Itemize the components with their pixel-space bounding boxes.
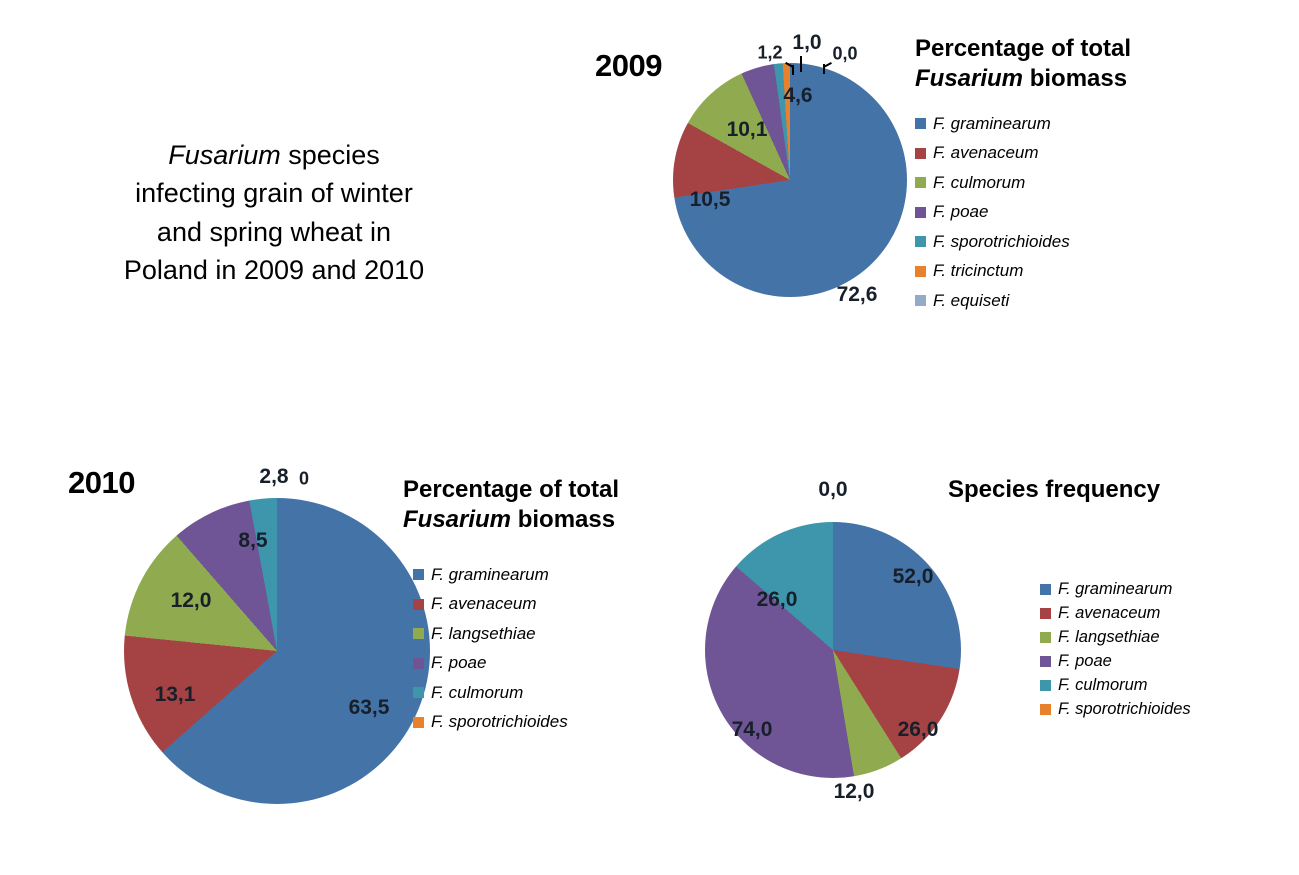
legend-swatch-lightblue-icon — [915, 295, 926, 306]
pie-2009-value-culmorum: 10,1 — [727, 118, 768, 142]
legend-item-graminearum[interactable]: F. graminearum — [915, 109, 1070, 139]
legend-label-avenaceum: F. avenaceum — [1058, 604, 1160, 623]
pie-2010 — [124, 498, 430, 804]
chart-title-2010-italic: Fusarium — [403, 506, 511, 533]
legend-item-poae[interactable]: F. poae — [1040, 649, 1191, 673]
legend-label-sporotrichioides: F. sporotrichioides — [933, 232, 1070, 252]
legend-label-langsethiae: F. langsethiae — [431, 624, 536, 644]
pie-2010-value-sporotrichioides: 0 — [299, 469, 309, 490]
caption-genus-italic: Fusarium — [168, 140, 281, 170]
leader-line-sporotrichioides-2 — [792, 65, 794, 75]
legend-item-poae[interactable]: F. poae — [915, 198, 1070, 228]
chart-2010-biomass: 2010 Percentage of total Fusarium biomas… — [60, 455, 660, 855]
chart-2009-biomass: 2009 Percentage of total Fusarium biomas… — [595, 20, 1195, 390]
legend-label-graminearum: F. graminearum — [933, 114, 1051, 134]
pie-2009-value-avenaceum: 10,5 — [690, 188, 731, 212]
caption-line3: and spring wheat in — [157, 217, 391, 247]
legend-label-culmorum: F. culmorum — [431, 683, 523, 703]
caption-line2: infecting grain of winter — [135, 178, 413, 208]
pie-2009-value-sporotrichioides: 1,2 — [757, 43, 782, 64]
chart-title-2010: Percentage of total Fusarium biomass — [403, 475, 673, 535]
figure-caption: Fusarium species infecting grain of wint… — [74, 136, 474, 289]
legend-item-avenaceum[interactable]: F. avenaceum — [1040, 601, 1191, 625]
legend-swatch-purple-icon — [413, 658, 424, 669]
legend-item-avenaceum[interactable]: F. avenaceum — [915, 139, 1070, 169]
pie-2010-value-culmorum: 2,8 — [259, 465, 288, 489]
legend-swatch-orange-icon — [413, 717, 424, 728]
legend-swatch-purple-icon — [1040, 656, 1051, 667]
chart-title-species-frequency: Species frequency — [948, 475, 1248, 505]
chart-title-2009-rest: biomass — [1023, 65, 1127, 92]
leader-line-tricinctum — [800, 56, 802, 72]
legend-2010: F. graminearum F. avenaceum F. langsethi… — [413, 560, 568, 737]
legend-label-graminearum: F. graminearum — [1058, 580, 1172, 599]
legend-label-sporotrichioides: F. sporotrichioides — [431, 712, 568, 732]
pie-2009-value-poae: 4,6 — [783, 84, 812, 108]
pie-2009-value-tricinctum: 1,0 — [792, 31, 821, 55]
year-label-2009: 2009 — [595, 48, 662, 84]
legend-label-poae: F. poae — [933, 202, 988, 222]
legend-swatch-red-icon — [915, 148, 926, 159]
legend-swatch-orange-icon — [1040, 704, 1051, 715]
chart-title-2010-line1: Percentage of total — [403, 476, 619, 503]
legend-label-tricinctum: F. tricinctum — [933, 261, 1023, 281]
pie-frequency-value-langsethiae: 12,0 — [834, 780, 875, 804]
legend-label-poae: F. poae — [1058, 652, 1112, 671]
legend-label-langsethiae: F. langsethiae — [1058, 628, 1160, 647]
legend-swatch-green-icon — [915, 177, 926, 188]
leader-line-equiseti-2 — [823, 64, 825, 74]
legend-swatch-orange-icon — [915, 266, 926, 277]
legend-item-graminearum[interactable]: F. graminearum — [1040, 577, 1191, 601]
pie-2010-value-avenaceum: 13,1 — [155, 683, 196, 707]
pie-frequency-value-poae: 74,0 — [732, 718, 773, 742]
legend-item-poae[interactable]: F. poae — [413, 649, 568, 679]
legend-swatch-green-icon — [413, 628, 424, 639]
pie-2009-value-equiseti: 0,0 — [832, 44, 857, 65]
legend-swatch-teal-icon — [413, 687, 424, 698]
legend-item-sporotrichioides[interactable]: F. sporotrichioides — [915, 227, 1070, 257]
legend-item-tricinctum[interactable]: F. tricinctum — [915, 257, 1070, 287]
legend-item-equiseti[interactable]: F. equiseti — [915, 286, 1070, 316]
legend-item-culmorum[interactable]: F. culmorum — [1040, 673, 1191, 697]
pie-2010-value-graminearum: 63,5 — [349, 696, 390, 720]
legend-swatch-green-icon — [1040, 632, 1051, 643]
year-label-2010: 2010 — [68, 465, 135, 501]
chart-title-2010-rest: biomass — [511, 506, 615, 533]
legend-label-culmorum: F. culmorum — [1058, 676, 1148, 695]
legend-swatch-red-icon — [1040, 608, 1051, 619]
legend-item-sporotrichioides[interactable]: F. sporotrichioides — [1040, 697, 1191, 721]
legend-species-frequency: F. graminearum F. avenaceum F. langsethi… — [1040, 577, 1191, 721]
chart-title-2009-italic: Fusarium — [915, 65, 1023, 92]
legend-swatch-teal-icon — [915, 236, 926, 247]
chart-title-2009-line1: Percentage of total — [915, 35, 1131, 62]
legend-swatch-purple-icon — [915, 207, 926, 218]
pie-2010-value-poae: 8,5 — [238, 529, 267, 553]
legend-swatch-red-icon — [413, 599, 424, 610]
legend-swatch-blue-icon — [915, 118, 926, 129]
legend-label-sporotrichioides: F. sporotrichioides — [1058, 700, 1191, 719]
pie-frequency-value-sporotrichioides: 0,0 — [818, 478, 847, 502]
pie-frequency-value-graminearum: 52,0 — [893, 565, 934, 589]
pie-2010-value-langsethiae: 12,0 — [171, 589, 212, 613]
legend-label-avenaceum: F. avenaceum — [431, 594, 537, 614]
caption-line1-rest: species — [281, 140, 380, 170]
chart-species-frequency: Species frequency 52,0 26,0 12,0 74,0 26… — [655, 455, 1295, 855]
chart-title-2009: Percentage of total Fusarium biomass — [915, 34, 1185, 94]
legend-label-avenaceum: F. avenaceum — [933, 143, 1039, 163]
caption-line4: Poland in 2009 and 2010 — [124, 255, 424, 285]
pie-frequency-value-culmorum: 26,0 — [757, 588, 798, 612]
legend-item-langsethiae[interactable]: F. langsethiae — [413, 619, 568, 649]
legend-label-equiseti: F. equiseti — [933, 291, 1009, 311]
legend-item-graminearum[interactable]: F. graminearum — [413, 560, 568, 590]
legend-swatch-blue-icon — [1040, 584, 1051, 595]
legend-item-sporotrichioides[interactable]: F. sporotrichioides — [413, 708, 568, 738]
legend-item-langsethiae[interactable]: F. langsethiae — [1040, 625, 1191, 649]
legend-item-avenaceum[interactable]: F. avenaceum — [413, 590, 568, 620]
legend-swatch-teal-icon — [1040, 680, 1051, 691]
legend-item-culmorum[interactable]: F. culmorum — [413, 678, 568, 708]
chart-title-species-frequency-line1: Species frequency — [948, 476, 1160, 503]
legend-swatch-blue-icon — [413, 569, 424, 580]
legend-label-culmorum: F. culmorum — [933, 173, 1025, 193]
legend-item-culmorum[interactable]: F. culmorum — [915, 168, 1070, 198]
legend-label-graminearum: F. graminearum — [431, 565, 549, 585]
pie-frequency-value-avenaceum: 26,0 — [898, 718, 939, 742]
legend-2009: F. graminearum F. avenaceum F. culmorum … — [915, 109, 1070, 316]
legend-label-poae: F. poae — [431, 653, 486, 673]
pie-2009-value-graminearum: 72,6 — [837, 283, 878, 307]
